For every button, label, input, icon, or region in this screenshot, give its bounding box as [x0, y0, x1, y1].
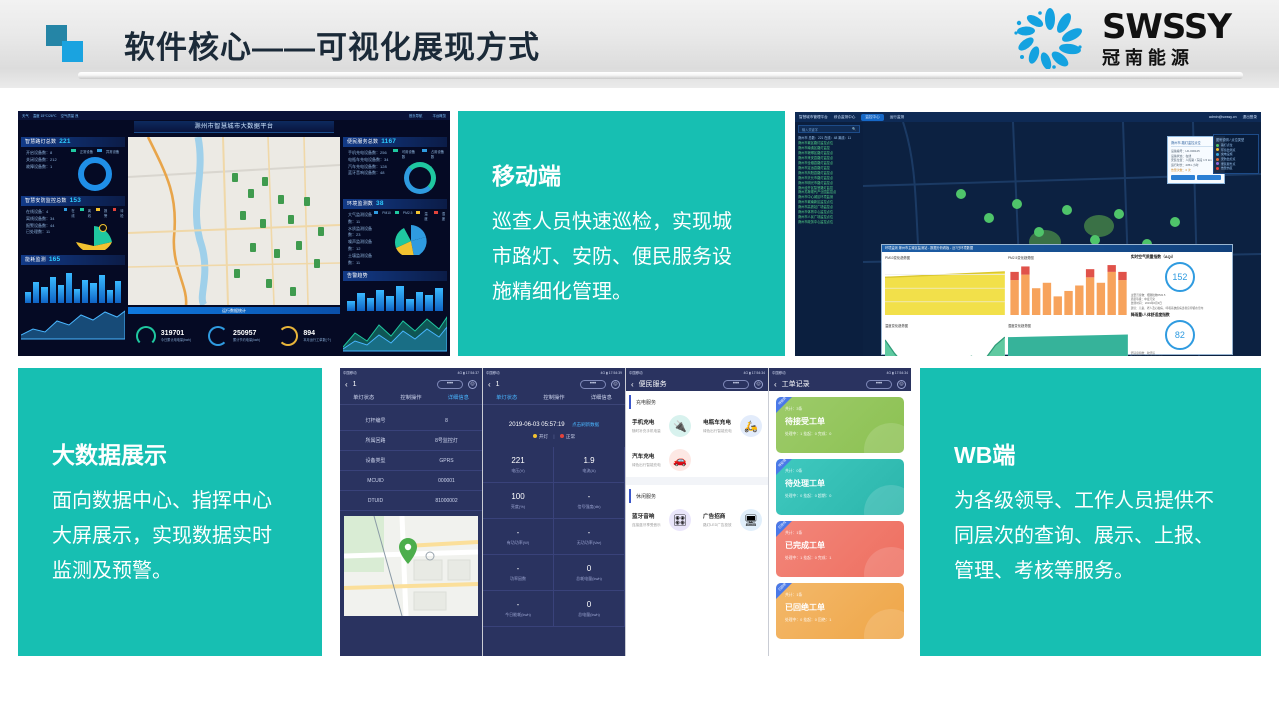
card-stats-services: 手机充电设备数：256 电瓶车充电设备数：34 汽车充电设备数：128 蓝牙音响…: [343, 147, 393, 194]
dashboard-center: 运行数据统计 319701 今日累计用电量(kwh) 250957 累计节约电量…: [128, 137, 340, 352]
detail-key: 所属回路: [340, 437, 411, 444]
nav-title: 工单记录: [782, 379, 861, 389]
card-value: 38: [376, 199, 384, 209]
chart-title: PM2.5变化趋势图: [1008, 255, 1128, 260]
metric-value: -: [517, 528, 520, 537]
logo-chinese-name: 冠南能源: [1102, 49, 1231, 67]
phone-status-bar: 中国移动 4G ▮ 17:54:34: [769, 368, 911, 377]
gis-search-input[interactable]: 输入关键字: [802, 127, 818, 132]
metric-value: 0: [587, 600, 591, 609]
logo-wordmark: SWSSY: [1102, 10, 1231, 44]
pie-chart-security: [71, 220, 117, 250]
slide-root: 软件核心——可视化展现方式: [0, 0, 1279, 720]
more-icon[interactable]: •••: [866, 380, 892, 389]
legend-label: 占用设备数: [431, 149, 447, 159]
metrics-grid: 221电压(V) 1.9电流(A) 100亮度(%) -信号强度(db) -有功…: [483, 447, 625, 627]
tab-control[interactable]: 控制操作: [387, 391, 434, 404]
card-meta: 共计：1条: [785, 593, 895, 598]
legend-title: 图例说明 / 点位类型: [1216, 137, 1256, 142]
metric-cell: 1.9电流(A): [554, 447, 625, 483]
comfort-value-ring: 82: [1165, 320, 1195, 350]
card-title-services: 便民服务总数 1167: [343, 137, 447, 147]
environment-analytics-window[interactable]: 环境监测 滁州市主城区监测站 - 数据分析看板 - 近7日环境数据 PM10变化…: [881, 244, 1233, 355]
service-sub: 绿色出行智能充电: [703, 429, 732, 434]
stat-line: 噪声监测设备数：12: [348, 239, 374, 253]
target-icon[interactable]: ◎: [468, 380, 477, 389]
service-title: 电瓶车充电: [703, 418, 732, 426]
detail-key: MCUID: [340, 478, 411, 484]
card-value: 153: [70, 196, 81, 206]
header-accent-square-light: [62, 41, 83, 62]
metric-value: -: [517, 600, 520, 609]
donut-chart-streetlight: [78, 157, 112, 191]
card-title-alarm-trend: 告警趋势: [343, 271, 447, 281]
metric-label: 功率因数: [510, 576, 526, 582]
tree-item[interactable]: 滁州市政务中心监控点位: [798, 220, 860, 225]
chart-title: 温度变化趋势图: [885, 323, 1005, 328]
phone-navbar: ‹ 1 ••• ◎: [483, 377, 625, 391]
detail-value: 8: [411, 418, 482, 424]
phone-screenshot-workorders: 中国移动 4G ▮ 17:54:34 ‹ 工单记录 ••• ◎ 待接受 共计：3…: [769, 368, 911, 656]
bar-chart-alarm: [343, 281, 447, 311]
card-legend-environment: PM10 PM2.5 温度 湿度: [374, 211, 447, 221]
chart-card-pm10-and-temp: PM10变化趋势图 温度变化趋势图: [885, 255, 1005, 356]
tab-lamp-status[interactable]: 单灯状态: [340, 391, 387, 404]
slide-header: 软件核心——可视化展现方式: [0, 0, 1279, 88]
target-icon[interactable]: ◎: [611, 380, 620, 389]
detail-row: DTUID 81000002: [340, 491, 482, 511]
card-meta: 共计：0条: [785, 469, 895, 474]
card-label: 便民服务总数: [347, 137, 378, 147]
metric-value: 1.9: [583, 456, 594, 465]
metric-label: 亮度(%): [511, 504, 525, 510]
panel-mobile-body: 巡查人员快速巡检，实现城市路灯、安防、便民服务设施精细化管理。: [492, 205, 751, 310]
gis-topbar-user: admin@swssy.cn: [1209, 115, 1237, 119]
metric-cell: 0总电量(kwh): [554, 591, 625, 627]
stat-line: 手机充电设备数：256: [348, 150, 393, 157]
stat-line: 大气监测设备数：11: [348, 212, 374, 226]
gis-legend: 图例说明 / 点位类型 路灯点位 环境监测点 充电设施 安防监控点 便民服务点 …: [1213, 134, 1259, 174]
phone-charge-icon: 🔌: [669, 415, 691, 437]
workorder-card-rejected[interactable]: 已回绝 共计：1条 已回绝工单 处理中：0 挂起：0 回绝：1: [776, 583, 904, 639]
card-label: 环境监测数: [347, 199, 373, 209]
kpi-label: 本月运行工单数(个): [303, 337, 331, 342]
metric-label: 电压(V): [511, 468, 524, 474]
metric-label: 总电量(kwh): [578, 612, 600, 618]
metric-value: 221: [511, 456, 524, 465]
analytics-window-titlebar: 环境监测 滁州市主城区监测站 - 数据分析看板 - 近7日环境数据: [882, 245, 1232, 252]
gis-device-tree[interactable]: 滁州市 总数：221 在线：48 离线：11 滁州市城区路灯监控点位 滁州市南谯…: [798, 136, 860, 225]
card-stats-security: 在线设备：4 离线设备数：34 报警设备数：44 已处理数：11: [21, 206, 64, 250]
dashboard-title: 滁州市智慧城市大数据平台: [134, 121, 334, 133]
status-icons: 4G ▮ 17:54:39: [601, 371, 622, 375]
humidity-area-chart: [1008, 329, 1128, 356]
stat-line: 开启设备数：8: [26, 150, 65, 157]
legend-label: 告警热区: [1221, 166, 1233, 171]
tab-lamp-status[interactable]: 单灯状态: [483, 391, 530, 404]
workorder-card-completed[interactable]: 已完成 共计：1条 已完成工单 处理中：1 挂起：0 完成：1: [776, 521, 904, 577]
legend-label: 湿度: [442, 211, 447, 221]
stat-line: 离线设备数：34: [26, 216, 64, 223]
legend-label: PM2.5: [403, 211, 413, 221]
metric-cell: -功率因数: [483, 555, 554, 591]
chart-title: PM10变化趋势图: [885, 255, 1005, 260]
bigdata-dashboard-screenshot: 天气 温度 15℃/26℃ 空气质量 良 首页导航 平台概览 滁州市智慧城市大数…: [18, 111, 450, 356]
metric-cell: 100亮度(%): [483, 483, 554, 519]
kpi-label: 累计节约电量(kwh): [233, 337, 260, 342]
detail-key: 灯杆编号: [340, 417, 411, 424]
kpi-item: 319701 今日累计用电量(kwh): [128, 317, 199, 355]
tab-detail[interactable]: 详细信息: [435, 391, 482, 404]
gis-topbar-center: 综合监测中心: [834, 115, 856, 120]
panel-bigdata-heading: 大数据展示: [52, 436, 288, 470]
dashboard-right-column: 便民服务总数 1167 手机充电设备数：256 电瓶车充电设备数：34 汽车充电…: [343, 137, 447, 352]
advertising-icon: 🖥: [740, 509, 762, 531]
metric-value: 0: [587, 564, 591, 573]
metric-value: -: [517, 564, 520, 573]
target-icon[interactable]: ◎: [897, 380, 906, 389]
header-divider-rule: [78, 72, 1243, 79]
phone-screenshot-lamp-detail: 中国移动 4G ▮ 17:54:37 ‹ 1 ••• ◎ 单灯状态 控制操作 详…: [340, 368, 482, 656]
metric-label: 总耗电量(kwh): [576, 576, 602, 582]
detail-row: 所属回路 8号监控灯: [340, 431, 482, 451]
service-title: 蓝牙音响: [632, 512, 661, 520]
status-indicator-row: 开灯 | 正常: [483, 434, 625, 447]
service-sub: 绿色出行智能充电: [632, 463, 661, 468]
stat-line: 土壤监测设备数：11: [348, 253, 374, 267]
page-title: 软件核心——可视化展现方式: [124, 22, 540, 67]
status-icons: 4G ▮ 17:54:37: [458, 371, 479, 375]
card-label: 能耗监测: [25, 255, 46, 265]
carrier-label: 中国移动: [486, 370, 500, 375]
service-sub: 连接蓝牙享受音乐: [632, 523, 661, 528]
service-item-bluetooth-speaker[interactable]: 蓝牙音响 连接蓝牙享受音乐 🎛: [626, 503, 697, 537]
service-sub: 随时补充手机电量: [632, 429, 661, 434]
legend-label: 待检: [120, 208, 125, 218]
metric-value: -: [588, 492, 591, 501]
metric-label: 信号强度(db): [577, 504, 600, 510]
stat-line: 故障设备数：1: [26, 164, 65, 171]
stat-line: 在线设备：4: [26, 209, 64, 216]
panel-bigdata: 大数据展示 面向数据中心、指挥中心大屏展示，实现数据实时监测及预警。: [18, 368, 322, 656]
detail-value: GPRS: [411, 458, 482, 464]
kpi-label: 今日累计用电量(kwh): [161, 337, 191, 342]
chart-card-pm25-and-humidity: PM2.5变化趋势图: [1008, 255, 1128, 356]
gis-topbar: 智慧城市管理平台 综合监测中心 监控中心 运行监测 admin@swssy.cn…: [795, 112, 1261, 122]
bluetooth-speaker-icon: 🎛: [669, 509, 691, 531]
city-map[interactable]: [128, 137, 340, 305]
metric-label: 电流(A): [582, 468, 595, 474]
more-icon[interactable]: •••: [437, 380, 463, 389]
aqi-desc: 建议：儿童、老人及心脏病、呼吸系统疾病患者应停留在室内: [1131, 307, 1229, 311]
back-icon[interactable]: ‹: [774, 380, 777, 389]
aqi-card: 实时空气质量指数（AQI） 152 主要污染物：细颗粒物PM2.5 质量等级：中…: [1131, 255, 1229, 356]
card-title-streetlight: 智慧路灯总数 221: [21, 137, 125, 147]
detail-row: 灯杆编号 8: [340, 411, 482, 431]
stat-line: 蓝牙音响设备数：48: [348, 170, 393, 177]
phone-status-bar: 中国移动 4G ▮ 17:54:37: [340, 368, 482, 377]
donut-chart-services: [404, 162, 436, 194]
card-value: 165: [49, 255, 60, 265]
legend-label: 正常设备: [80, 149, 93, 154]
detail-value: 81000002: [411, 498, 482, 504]
kpi-value: 319701: [161, 330, 191, 337]
service-title: 汽车充电: [632, 452, 661, 460]
pie-chart-environment: [388, 223, 434, 255]
service-item-car-charge[interactable]: 汽车充电 绿色出行智能充电 🚗: [626, 443, 697, 477]
refresh-link[interactable]: 点击刷新数据: [572, 422, 599, 427]
phone-navbar: ‹ 工单记录 ••• ◎: [769, 377, 911, 391]
temperature-area-chart: [885, 329, 1005, 356]
metric-cell: 0总耗电量(kwh): [554, 555, 625, 591]
legend-label: 温度: [424, 211, 429, 221]
card-legend-security: 在线 离线 报警 待检: [64, 208, 125, 218]
card-label: 智慧安防监控总数: [25, 196, 67, 206]
card-title-environment: 环境监测数 38: [343, 199, 447, 209]
kpi-value: 894: [303, 330, 331, 337]
metric-cell: -无功功率(Var): [554, 519, 625, 555]
service-title: 手机充电: [632, 418, 661, 426]
service-item-advertising[interactable]: 广告招商 路灯LED广告投放 🖥: [697, 503, 768, 537]
legend-label: 异常设备: [106, 149, 119, 154]
panel-mobile: 移动端 巡查人员快速巡检，实现城市路灯、安防、便民服务设施精细化管理。: [458, 111, 785, 356]
detail-value: 000001: [411, 478, 482, 484]
phone-tabs: 单灯状态 控制操作 详细信息: [483, 391, 625, 405]
detail-key: DTUID: [340, 498, 411, 504]
card-meta: 共计：3条: [785, 407, 895, 412]
detail-value: 8号监控灯: [411, 437, 482, 444]
status-icons: 4G ▮ 17:54:34: [887, 371, 908, 375]
detail-row: 设备类型 GPRS: [340, 451, 482, 471]
metric-label: 有功功率(W): [507, 540, 529, 546]
phone-navbar: ‹ 1 ••• ◎: [340, 377, 482, 391]
legend-label: PM10: [382, 211, 391, 221]
gis-topbar-runtime-tab[interactable]: 运行监测: [890, 115, 904, 120]
dashboard-left-column: 智慧路灯总数 221 开启设备数：8 关闭设备数：212 故障设备数：1 正常设…: [21, 137, 125, 352]
kpi-value: 250957: [233, 330, 260, 337]
status-timestamp-row: 2019-06-03 05:57:19 点击刷新数据: [483, 405, 625, 434]
metric-label: 今日能耗(kwh): [505, 612, 531, 618]
phone-screenshot-lamp-status: 中国移动 4G ▮ 17:54:39 ‹ 1 ••• ◎ 单灯状态 控制操作 详…: [483, 368, 625, 656]
carrier-label: 中国移动: [772, 370, 786, 375]
car-charge-icon: 🚗: [669, 449, 691, 471]
card-stats-streetlight: 开启设备数：8 关闭设备数：212 故障设备数：1: [21, 147, 65, 191]
gis-topbar-app: 智慧城市管理平台: [799, 115, 828, 120]
panel-mobile-heading: 移动端: [492, 157, 751, 191]
metric-value: -: [588, 528, 591, 537]
more-icon[interactable]: •••: [580, 380, 606, 389]
metric-cell: 221电压(V): [483, 447, 554, 483]
tab-control[interactable]: 控制操作: [530, 391, 577, 404]
gis-sidebar: 输入关键字 🔍 滁州市 总数：221 在线：48 离线：11 滁州市城区路灯监控…: [795, 122, 863, 356]
service-title: 广告招商: [703, 512, 732, 520]
back-icon[interactable]: ‹: [631, 380, 634, 389]
pm25-bar-chart: [1008, 261, 1128, 315]
search-icon[interactable]: 🔍: [852, 127, 856, 131]
carrier-label: 中国移动: [629, 370, 643, 375]
bar-chart-energy: [21, 265, 125, 303]
status-on-label: 开灯: [539, 434, 548, 439]
card-legend-services: 可用设备数 占用设备数: [393, 149, 447, 159]
card-value: 221: [59, 137, 70, 147]
dashboard-kpi-row: 319701 今日累计用电量(kwh) 250957 累计节约电量(kwh) 8…: [128, 317, 340, 355]
workorder-card-pending-accept[interactable]: 待接受 共计：3条 待接受工单 处理中：1 挂起：0 完成：0: [776, 397, 904, 453]
panel-web-body: 为各级领导、工作人员提供不同层次的查询、展示、上报、管理、考核等服务。: [954, 484, 1227, 589]
dashboard-topbar: 天气 温度 15℃/26℃ 空气质量 良 首页导航 平台概览: [18, 111, 450, 120]
detail-key: 设备类型: [340, 457, 411, 464]
card-label: 告警趋势: [347, 271, 368, 281]
metric-cell: -有功功率(W): [483, 519, 554, 555]
stat-line: 水质监测设备数：23: [348, 226, 374, 240]
popup-locate-button[interactable]: [1197, 175, 1221, 180]
dashboard-topbar-air: 空气质量 良: [61, 113, 79, 118]
dashboard-topbar-overview: 平台概览: [432, 113, 446, 118]
metric-label: 无功功率(Var): [577, 540, 602, 546]
panel-web-heading: WB端: [954, 436, 1227, 470]
legend-item[interactable]: 告警热区: [1216, 166, 1256, 171]
nav-title: 1: [496, 381, 575, 388]
aqi-title: 实时空气质量指数（AQI）: [1131, 255, 1229, 260]
detail-row: MCUID 000001: [340, 471, 482, 491]
service-sub: 路灯LED广告投放: [703, 523, 732, 528]
phone-tabs: 单灯状态 控制操作 详细信息: [340, 391, 482, 405]
card-legend-streetlight: 正常设备 异常设备: [65, 149, 125, 154]
panel-bigdata-body: 面向数据中心、指挥中心大屏展示，实现数据实时监测及预警。: [52, 484, 288, 589]
back-icon[interactable]: ‹: [345, 380, 348, 389]
comfort-title: 降雨量/人体舒适度指数: [1131, 313, 1229, 318]
legend-label: 在线: [71, 208, 76, 218]
dashboard-topbar-nav: 首页导航: [409, 113, 423, 118]
phone-status-bar: 中国移动 4G ▮ 17:54:39: [483, 368, 625, 377]
metric-cell: -信号强度(db): [554, 483, 625, 519]
legend-label: 报警: [104, 208, 109, 218]
card-label: 智慧路灯总数: [25, 137, 56, 147]
workorder-card-pending-process[interactable]: 待处理 共计：0条 待处理工单 处理中：0 挂起：0 超期：0: [776, 459, 904, 515]
popup-detail-button[interactable]: [1171, 175, 1195, 180]
gis-topbar-monitor-tab[interactable]: 监控中心: [861, 114, 883, 121]
timestamp: 2019-06-03 05:57:19: [509, 422, 565, 428]
stat-line: 电瓶车充电设备数：34: [348, 157, 393, 164]
chart-title: 湿度变化趋势图: [1008, 323, 1128, 328]
phone-navbar: ‹ 便民服务 ••• ◎: [626, 377, 768, 391]
metric-value: 100: [511, 492, 524, 501]
card-stats-environment: 大气监测设备数：11 水质监测设备数：23 噪声监测设备数：12 土壤监测设备数…: [343, 209, 374, 266]
service-item-empty: [697, 443, 768, 477]
area-chart-energy-trend: [21, 303, 125, 345]
dashboard-topbar-temp: 温度 15℃/26℃: [33, 113, 57, 118]
pm10-area-chart: [885, 261, 1005, 315]
phone-screenshot-services: 中国移动 4G ▮ 17:54:34 ‹ 便民服务 ••• ◎ 充电服务 手机充…: [626, 368, 768, 656]
nav-title: 便民服务: [639, 379, 718, 389]
status-normal-label: 正常: [566, 434, 575, 439]
stat-line: 关闭设备数：212: [26, 157, 65, 164]
ebike-charge-icon: 🛵: [740, 415, 762, 437]
tab-detail[interactable]: 详细信息: [578, 391, 625, 404]
panel-web: WB端 为各级领导、工作人员提供不同层次的查询、展示、上报、管理、考核等服务。: [920, 368, 1261, 656]
phone-status-bar: 中国移动 4G ▮ 17:54:34: [626, 368, 768, 377]
card-title-energy: 能耗监测 165: [21, 255, 125, 265]
card-value: 1167: [381, 137, 396, 147]
card-title-security: 智慧安防监控总数 153: [21, 196, 125, 206]
aqi-value-ring: 152: [1165, 262, 1195, 292]
service-item-phone-charge[interactable]: 手机充电 随时补充手机电量 🔌: [626, 409, 697, 443]
water-droplet-petals-icon: [1010, 7, 1090, 69]
metric-cell: -今日能耗(kwh): [483, 591, 554, 627]
back-icon[interactable]: ‹: [488, 380, 491, 389]
area-chart-alarm-trend: [343, 311, 447, 353]
kpi-item: 250957 累计节约电量(kwh): [199, 317, 270, 355]
gis-dashboard-screenshot: 智慧城市管理平台 综合监测中心 监控中心 运行监测 admin@swssy.cn…: [795, 112, 1261, 356]
legend-label: 可用设备数: [402, 149, 418, 159]
target-icon[interactable]: ◎: [754, 380, 763, 389]
status-icons: 4G ▮ 17:54:34: [744, 371, 765, 375]
brand-logo: SWSSY 冠南能源: [1010, 6, 1231, 70]
section-header-leisure: 休闲服务: [629, 489, 768, 503]
phone-map[interactable]: [344, 516, 478, 616]
section-header-charging: 充电服务: [629, 395, 768, 409]
nav-title: 1: [353, 381, 432, 388]
more-icon[interactable]: •••: [723, 380, 749, 389]
dashboard-topbar-weather: 天气: [22, 113, 29, 118]
gis-search-box[interactable]: 输入关键字 🔍: [798, 125, 860, 133]
service-item-ebike-charge[interactable]: 电瓶车充电 绿色出行智能充电 🛵: [697, 409, 768, 443]
gis-logout-link[interactable]: 退出登录: [1243, 115, 1257, 120]
stat-line: 已处理数：11: [26, 229, 64, 236]
carrier-label: 中国移动: [343, 370, 357, 375]
legend-label: 离线: [88, 208, 93, 218]
dashboard-section-bar: 运行数据统计: [128, 307, 340, 314]
kpi-item: 894 本月运行工单数(个): [269, 317, 340, 355]
card-meta: 共计：1条: [785, 531, 895, 536]
